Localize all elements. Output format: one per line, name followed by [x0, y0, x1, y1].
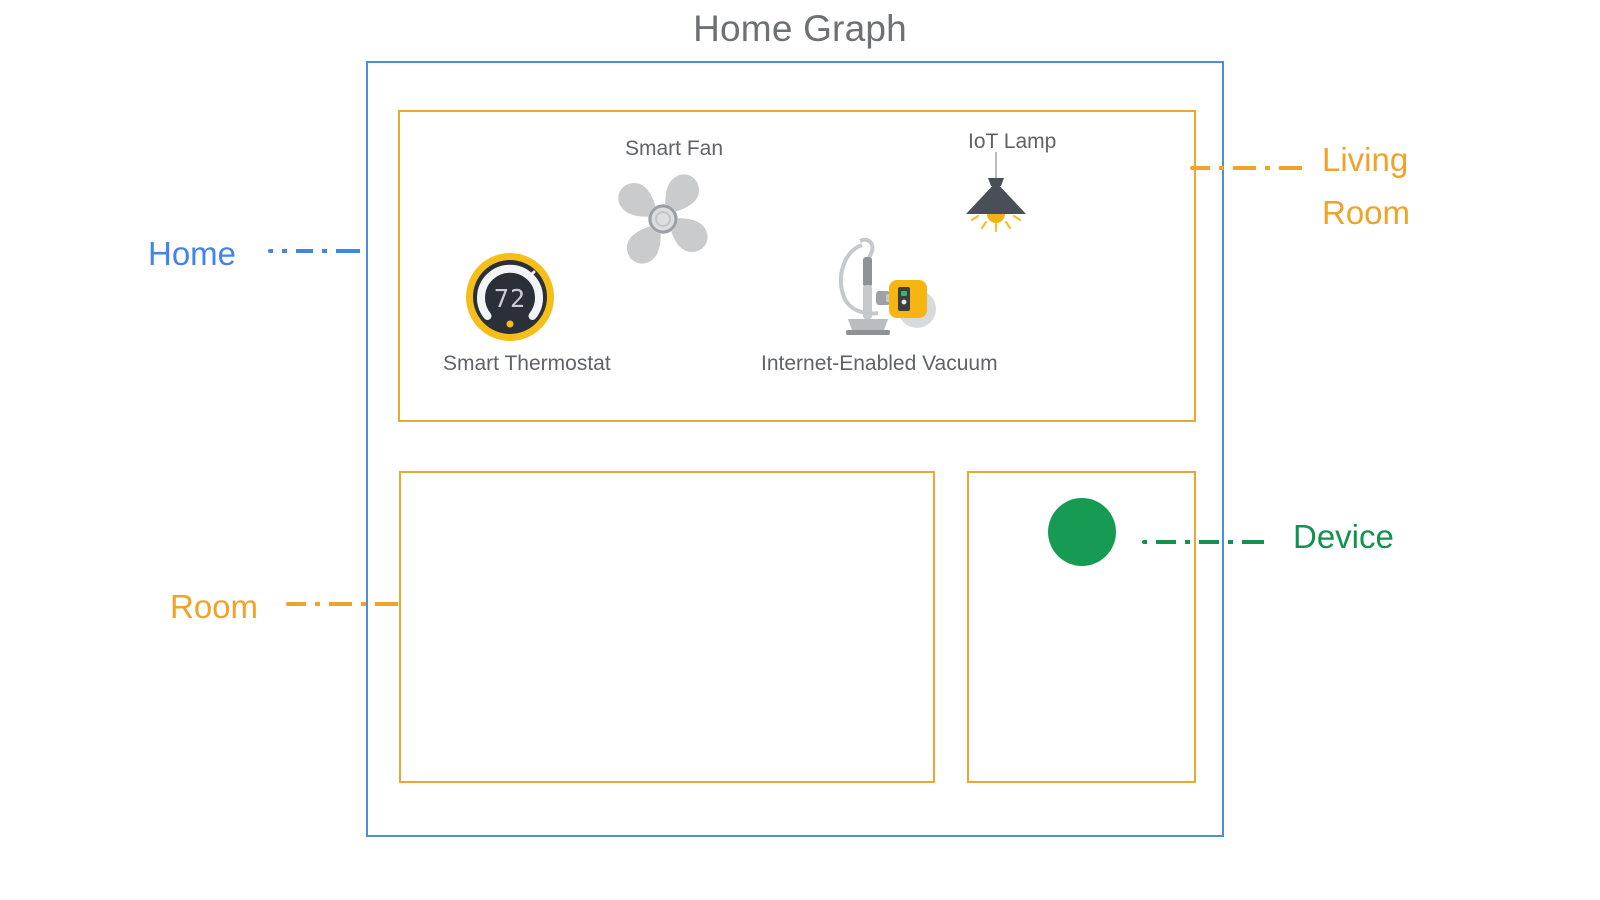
home-leader-line: [268, 249, 368, 253]
device-label-iot-lamp: IoT Lamp: [968, 130, 1056, 154]
device-label-smart-thermostat: Smart Thermostat: [443, 352, 611, 376]
device-node-circle[interactable]: [1048, 498, 1116, 566]
fan-icon[interactable]: [608, 164, 718, 274]
svg-text:72: 72: [494, 284, 526, 313]
room-leader-line: [286, 602, 402, 606]
callout-label-device: Device: [1293, 510, 1394, 563]
living-room-leader-line: [1190, 166, 1308, 170]
device-leader-line: [1142, 540, 1280, 544]
device-label-internet-enabled-vacuum: Internet-Enabled Vacuum: [761, 352, 998, 376]
lamp-icon[interactable]: [955, 152, 1037, 234]
page-title: Home Graph: [0, 8, 1600, 50]
room-box-empty-left[interactable]: [399, 471, 935, 783]
thermostat-icon[interactable]: 72: [464, 251, 556, 343]
vacuum-icon[interactable]: [826, 231, 936, 339]
callout-label-home: Home: [148, 227, 236, 280]
device-label-smart-fan: Smart Fan: [625, 137, 723, 161]
callout-label-living-room: Living Room: [1322, 133, 1410, 240]
callout-label-room: Room: [170, 580, 258, 633]
home-graph-diagram: Home Graph: [0, 0, 1600, 900]
